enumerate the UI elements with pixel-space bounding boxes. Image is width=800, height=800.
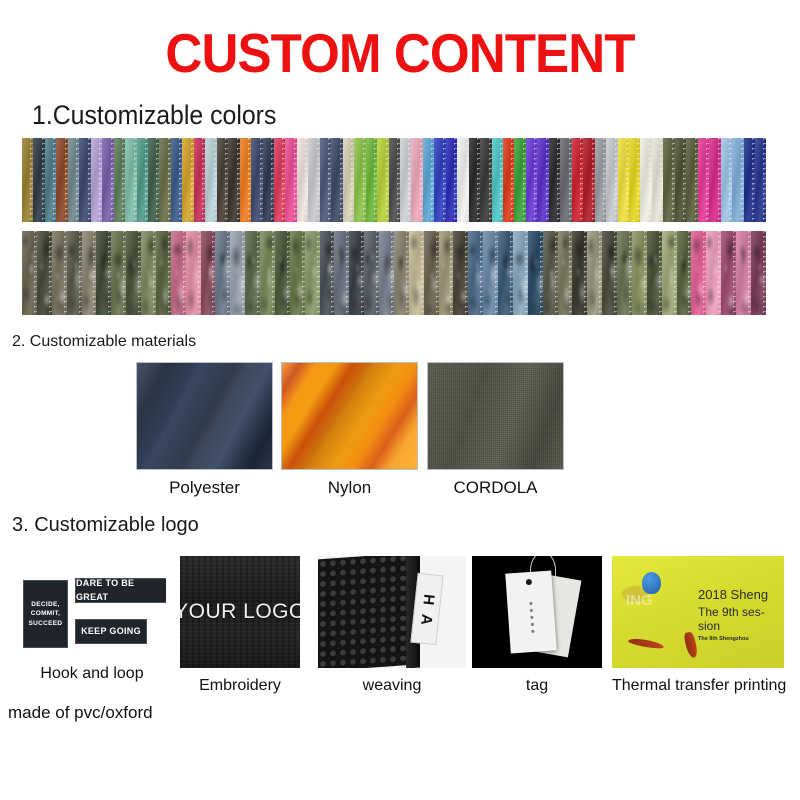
color-swatch [56, 138, 67, 222]
patch-line: DECIDE, [31, 600, 59, 609]
color-swatch [114, 138, 125, 222]
camo-swatch [721, 231, 736, 315]
camo-swatch [67, 231, 82, 315]
section-heading-materials: 2. Customizable materials [12, 333, 196, 351]
camo-swatch [22, 231, 37, 315]
camo-swatch [706, 231, 721, 315]
page-title: CUSTOM CONTENT [28, 26, 772, 81]
camo-swatch [201, 231, 216, 315]
section-heading-colors: 1.Customizable colors [32, 100, 276, 131]
patch-decide-commit-succeed: DECIDE, COMMIT, SUCCEED [23, 580, 68, 648]
color-swatch [663, 138, 674, 222]
color-swatch [549, 138, 560, 222]
color-swatch [228, 138, 239, 222]
material-cell: Nylon [281, 362, 418, 498]
camo-swatch [186, 231, 201, 315]
logo-caption-weaving: weaving [318, 677, 466, 695]
logo-option-tag: tag [472, 556, 602, 695]
material-caption: CORDOLA [427, 478, 564, 498]
color-swatch [274, 138, 285, 222]
color-swatch [377, 138, 388, 222]
camo-swatch [572, 231, 587, 315]
color-swatch [45, 138, 56, 222]
camo-swatch [379, 231, 394, 315]
color-swatch [79, 138, 90, 222]
camo-swatch [230, 231, 245, 315]
color-swatch [91, 138, 102, 222]
thermal-print-text-block: 2018 Sheng The 9th ses-sion The 9th Shen… [698, 588, 782, 642]
camo-swatch [96, 231, 111, 315]
embroidery-logo-text: YOUR LOGO [180, 600, 300, 624]
tag-printed-marks [529, 602, 534, 633]
camo-swatch [453, 231, 468, 315]
color-swatch [22, 138, 33, 222]
camo-swatch [468, 231, 483, 315]
camo-swatch [334, 231, 349, 315]
camo-swatch [587, 231, 602, 315]
tag-hole [526, 579, 532, 585]
color-swatch [137, 138, 148, 222]
weaving-panel: H A [318, 556, 466, 668]
color-swatch [366, 138, 377, 222]
color-swatch [297, 138, 308, 222]
camo-swatch [528, 231, 543, 315]
chili-motif [683, 631, 699, 659]
color-swatch [652, 138, 663, 222]
color-swatch [320, 138, 331, 222]
material-caption: Nylon [281, 478, 418, 498]
camo-swatch [126, 231, 141, 315]
patch-line: SUCCEED [29, 619, 63, 628]
print-line-small: The 9th Shengzhou [698, 636, 782, 642]
camo-swatch [290, 231, 305, 315]
embroidery-panel: YOUR LOGO [180, 556, 300, 668]
camo-swatch [156, 231, 171, 315]
color-swatch [755, 138, 766, 222]
color-swatch [102, 138, 113, 222]
infographic-page: CUSTOM CONTENT 1.Customizable colors 2. … [0, 0, 800, 800]
camo-swatch [617, 231, 632, 315]
color-swatch [686, 138, 697, 222]
color-swatch [125, 138, 136, 222]
patch-keep-going: KEEP GOING [75, 619, 147, 644]
tag-panel [472, 556, 602, 668]
camo-swatch [409, 231, 424, 315]
color-swatch [698, 138, 709, 222]
camo-swatch [82, 231, 97, 315]
material-cell: CORDOLA [427, 362, 564, 498]
blue-emblem-icon [642, 572, 661, 594]
camo-swatch [647, 231, 662, 315]
solid-color-swatch-strip [22, 138, 766, 222]
color-swatch [194, 138, 205, 222]
color-swatch [629, 138, 640, 222]
color-swatch [503, 138, 514, 222]
camo-swatch [349, 231, 364, 315]
camo-swatch [320, 231, 335, 315]
woven-label-glyph: H [420, 593, 436, 605]
patch-line: COMMIT, [31, 609, 61, 618]
material-swatch-nylon [281, 362, 418, 470]
camo-swatch [498, 231, 513, 315]
color-swatch [159, 138, 170, 222]
color-swatch [492, 138, 503, 222]
camo-swatch [736, 231, 751, 315]
color-swatch [469, 138, 480, 222]
camo-swatch [558, 231, 573, 315]
color-swatch [400, 138, 411, 222]
patch-line: KEEP GOING [81, 625, 141, 638]
logo-option-thermal-transfer: ING 2018 Sheng The 9th ses-sion The 9th … [612, 556, 784, 695]
color-swatch [285, 138, 296, 222]
material-swatch-polyester [136, 362, 273, 470]
material-caption: Polyester [136, 478, 273, 498]
camo-swatch [245, 231, 260, 315]
color-swatch [68, 138, 79, 222]
color-swatch [411, 138, 422, 222]
camo-swatch [111, 231, 126, 315]
color-swatch [354, 138, 365, 222]
logo-caption-hook-and-loop: Hook and loop [18, 665, 166, 683]
color-swatch [514, 138, 525, 222]
color-swatch [744, 138, 755, 222]
camo-swatch [602, 231, 617, 315]
mesh-fabric [318, 556, 414, 668]
camo-swatch [260, 231, 275, 315]
color-swatch [148, 138, 159, 222]
color-swatch [182, 138, 193, 222]
logo-caption-thermal-transfer: Thermal transfer printing [612, 677, 784, 695]
color-swatch [675, 138, 686, 222]
print-line-year: 2018 Sheng [698, 588, 782, 603]
color-swatch [240, 138, 251, 222]
color-swatch [217, 138, 228, 222]
camo-swatch [751, 231, 766, 315]
color-swatch [583, 138, 594, 222]
color-swatch [721, 138, 732, 222]
material-cell: Polyester [136, 362, 273, 498]
color-swatch [560, 138, 571, 222]
color-swatch [33, 138, 44, 222]
faded-print-text: ING [626, 592, 653, 609]
color-swatch [640, 138, 651, 222]
material-swatch-cordola [427, 362, 564, 470]
camo-swatch [677, 231, 692, 315]
color-swatch [606, 138, 617, 222]
color-swatch [308, 138, 319, 222]
color-swatch [537, 138, 548, 222]
color-swatch [526, 138, 537, 222]
color-swatch [434, 138, 445, 222]
color-swatch [251, 138, 262, 222]
camo-swatch [662, 231, 677, 315]
chili-motif [628, 637, 665, 650]
color-swatch [389, 138, 400, 222]
camo-swatch [394, 231, 409, 315]
camo-swatch [513, 231, 528, 315]
logo-sub-caption: made of pvc/oxford [8, 703, 153, 723]
logo-option-embroidery: YOUR LOGO Embroidery [180, 556, 300, 695]
print-line-session: The 9th ses-sion [698, 606, 782, 634]
thermal-transfer-panel: ING 2018 Sheng The 9th ses-sion The 9th … [612, 556, 784, 668]
patch-line: DARE TO BE GREAT [76, 577, 166, 603]
section-heading-logo: 3. Customizable logo [12, 514, 199, 537]
camo-swatch [171, 231, 186, 315]
woven-label-glyph: A [418, 613, 434, 625]
color-swatch [331, 138, 342, 222]
tag-card-front [505, 570, 556, 653]
color-swatch [732, 138, 743, 222]
patch-dare-to-be-great: DARE TO BE GREAT [75, 578, 166, 603]
color-swatch [709, 138, 720, 222]
camo-swatch [52, 231, 67, 315]
camo-swatch [275, 231, 290, 315]
color-swatch [343, 138, 354, 222]
color-swatch [205, 138, 216, 222]
materials-row: PolyesterNylonCORDOLA [0, 362, 800, 502]
camo-swatch [632, 231, 647, 315]
color-swatch [446, 138, 457, 222]
camo-swatch [141, 231, 156, 315]
camo-swatch [424, 231, 439, 315]
color-swatch [423, 138, 434, 222]
camo-swatch [364, 231, 379, 315]
logo-caption-tag: tag [472, 677, 602, 695]
camo-swatch [215, 231, 230, 315]
color-swatch [572, 138, 583, 222]
color-swatch [457, 138, 468, 222]
camo-swatch [483, 231, 498, 315]
color-swatch [171, 138, 182, 222]
hook-and-loop-panel: DECIDE, COMMIT, SUCCEED DARE TO BE GREAT… [18, 556, 166, 656]
camo-swatch [543, 231, 558, 315]
logo-option-hook-and-loop: DECIDE, COMMIT, SUCCEED DARE TO BE GREAT… [18, 556, 166, 683]
camo-swatch [37, 231, 52, 315]
camo-swatch-strip [22, 231, 766, 315]
color-swatch [618, 138, 629, 222]
camo-swatch [439, 231, 454, 315]
logo-caption-embroidery: Embroidery [180, 677, 300, 695]
color-swatch [263, 138, 274, 222]
camo-swatch [691, 231, 706, 315]
color-swatch [480, 138, 491, 222]
camo-swatch [305, 231, 320, 315]
color-swatch [595, 138, 606, 222]
logo-option-weaving: H A weaving [318, 556, 466, 695]
